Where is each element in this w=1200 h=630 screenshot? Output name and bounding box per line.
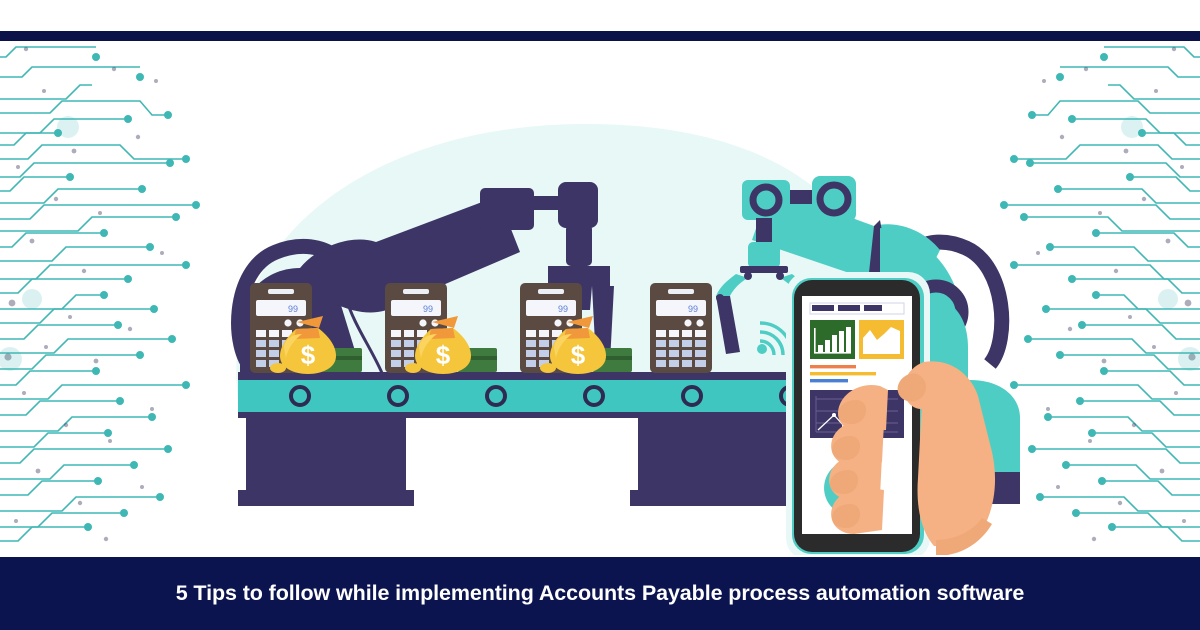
- dashboard-header-bar: [810, 303, 904, 314]
- progress-line-orange: [810, 365, 856, 368]
- progress-line-blue: [810, 379, 848, 382]
- poster-canvas: 99 $: [0, 0, 1200, 630]
- bottom-banner: 5 Tips to follow while implementing Acco…: [0, 557, 1200, 630]
- progress-line-yellow: [810, 372, 876, 375]
- svg-text:$: $: [571, 340, 586, 370]
- bar-chart-widget: [810, 320, 855, 359]
- top-rule-bar: [0, 31, 1200, 41]
- svg-text:$: $: [301, 340, 316, 370]
- conveyor-assembly: [238, 372, 838, 506]
- calculator: 99: [650, 283, 712, 373]
- main-illustration: 99 $: [180, 100, 1020, 555]
- svg-text:99: 99: [423, 304, 433, 314]
- svg-text:99: 99: [288, 304, 298, 314]
- banner-headline: 5 Tips to follow while implementing Acco…: [176, 581, 1025, 606]
- area-chart-widget: [859, 320, 904, 359]
- svg-text:99: 99: [558, 304, 568, 314]
- automation-scene: 99 $: [180, 100, 1020, 555]
- svg-text:99: 99: [688, 304, 698, 314]
- svg-text:$: $: [436, 340, 451, 370]
